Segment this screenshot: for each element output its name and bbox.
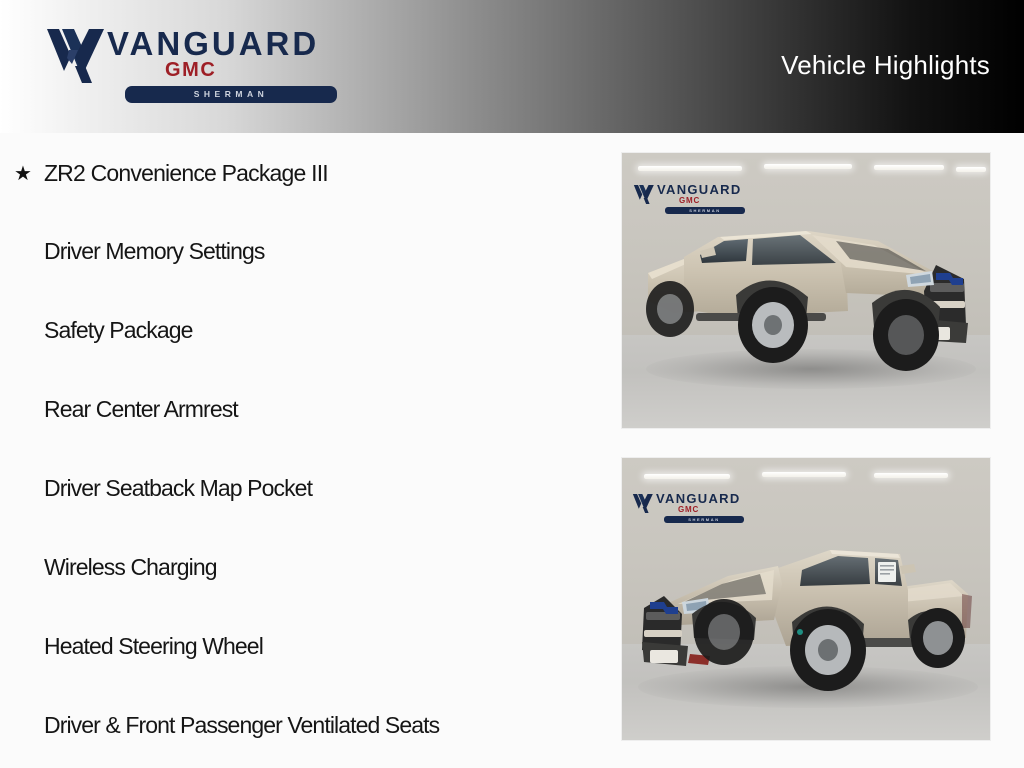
list-item: Heated Steering Wheel bbox=[44, 626, 644, 666]
slide-header: VANGUARD GMC SHERMAN Vehicle Highlights bbox=[0, 0, 1024, 133]
logo-brand-text: VANGUARD bbox=[107, 27, 319, 60]
list-item: Driver & Front Passenger Ventilated Seat… bbox=[44, 705, 644, 745]
list-item: Safety Package bbox=[44, 310, 644, 350]
logo-make-text: GMC bbox=[165, 60, 216, 80]
list-item: Rear Center Armrest bbox=[44, 389, 644, 429]
highlight-heading-text: ZR2 Convenience Package III bbox=[44, 160, 328, 187]
logo-location-text: SHERMAN bbox=[125, 86, 337, 103]
list-item: Wireless Charging bbox=[44, 547, 644, 587]
list-item: Driver Seatback Map Pocket bbox=[44, 468, 644, 508]
slide: VANGUARD GMC SHERMAN Vehicle Highlights … bbox=[0, 0, 1024, 768]
page-title: Vehicle Highlights bbox=[781, 50, 990, 81]
list-item-text: Wireless Charging bbox=[44, 554, 217, 581]
list-item-text: Rear Center Armrest bbox=[44, 396, 238, 423]
truck-illustration bbox=[640, 201, 978, 381]
list-item-text: Driver Seatback Map Pocket bbox=[44, 475, 312, 502]
list-item-text: Safety Package bbox=[44, 317, 193, 344]
watermark-brand-text: VANGUARD bbox=[657, 183, 742, 196]
vanguard-monogram-icon bbox=[45, 26, 107, 86]
highlight-heading: ★ ZR2 Convenience Package III bbox=[14, 153, 614, 193]
logo-location-bar: SHERMAN bbox=[125, 86, 337, 103]
vehicle-photo-front-driver-three-quarter[interactable]: VANGUARD GMC SHERMAN bbox=[621, 457, 991, 741]
vehicle-highlights-list: ★ ZR2 Convenience Package III Driver Mem… bbox=[0, 133, 600, 768]
dealership-logo: VANGUARD GMC SHERMAN bbox=[45, 24, 293, 112]
logo-wordmark: VANGUARD GMC SHERMAN bbox=[107, 24, 293, 112]
vehicle-photo-front-passenger-three-quarter[interactable]: VANGUARD GMC SHERMAN bbox=[621, 152, 991, 429]
truck-illustration bbox=[632, 510, 984, 696]
star-icon: ★ bbox=[14, 163, 32, 183]
list-item-text: Driver & Front Passenger Ventilated Seat… bbox=[44, 712, 439, 739]
list-item-text: Driver Memory Settings bbox=[44, 238, 264, 265]
watermark-brand-text: VANGUARD bbox=[656, 492, 741, 505]
list-item: Driver Memory Settings bbox=[44, 231, 644, 271]
list-item-text: Heated Steering Wheel bbox=[44, 633, 263, 660]
